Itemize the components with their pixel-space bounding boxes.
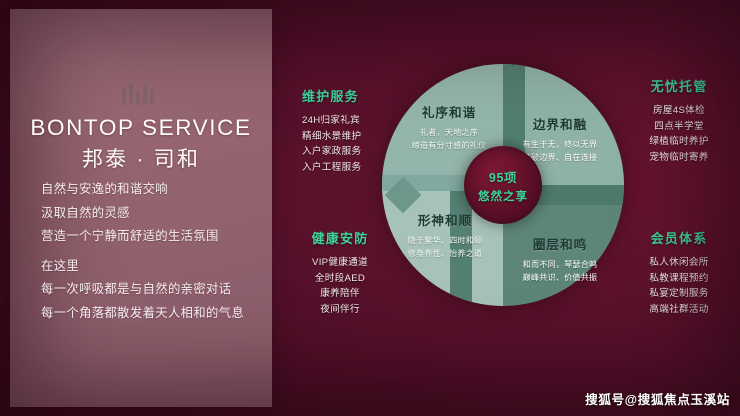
- group-item: 夜间伴行: [302, 302, 378, 318]
- core-slogan: 悠然之享: [478, 188, 528, 204]
- group-title: 健康安防: [302, 228, 378, 247]
- quadrant-label-ceremony: 礼序和谐 礼者，天地之序 缔造有分寸感的礼仪: [396, 102, 502, 153]
- group-item: 宠物临时寄养: [634, 150, 724, 166]
- service-group-membership: 会员体系 私人休闲会所 私教课程预约 私宴定制服务 高端社群活动: [634, 228, 724, 317]
- bontop-stripes-logo-icon: [122, 81, 158, 105]
- intro-line: 在这里: [41, 259, 266, 274]
- service-group-maintenance: 维护服务 24H归家礼宾 精细水景维护 入户家政服务 入户工程服务: [302, 86, 361, 175]
- core-count: 95项: [489, 167, 517, 186]
- quadrant-subtitle: 礼者，天地之序: [396, 126, 502, 139]
- intro-line: 自然与安逸的和谐交响: [41, 182, 266, 197]
- group-item: 私人休闲会所: [634, 255, 724, 271]
- quadrant-subtitle: 巅峰共识、价值共振: [502, 271, 618, 284]
- group-item: 房屋4S体检: [634, 103, 724, 119]
- brand-title-cn: 邦泰 · 司和: [10, 143, 272, 173]
- intro-line: 汲取自然的灵感: [41, 206, 266, 221]
- service-group-custody: 无忧托管 房屋4S体检 四点半学堂 绿植临时养护 宠物临时寄养: [634, 76, 724, 165]
- group-item: 康养陪伴: [302, 286, 378, 302]
- service-group-health-security: 健康安防 VIP健康通道 全时段AED 康养陪伴 夜间伴行: [302, 228, 378, 317]
- quadrant-subtitle: 和而不同，琴瑟合鸣: [502, 258, 618, 271]
- group-item: 全时段AED: [302, 271, 378, 287]
- group-title: 会员体系: [634, 228, 724, 247]
- quadrant-subtitle: 隐于繁华、四时和颐: [390, 234, 500, 247]
- group-item: 24H归家礼宾: [302, 113, 361, 129]
- quadrant-title: 边界和融: [504, 114, 616, 133]
- group-item: 私宴定制服务: [634, 286, 724, 302]
- brand-title-en: BONTOP SERVICE: [10, 115, 272, 141]
- group-item: 高端社群活动: [634, 302, 724, 318]
- slide-canvas: BONTOP SERVICE 邦泰 · 司和 自然与安逸的和谐交响 汲取自然的灵…: [0, 0, 740, 416]
- group-title: 维护服务: [302, 86, 361, 105]
- quadrant-title: 礼序和谐: [396, 102, 502, 121]
- quadrant-subtitle: 修身养性、怡养之道: [390, 247, 500, 260]
- intro-line: 每一次呼吸都是与自然的亲密对话: [41, 282, 266, 297]
- diagram-core-badge: 95项 悠然之享: [464, 146, 542, 224]
- group-item: 精细水景维护: [302, 129, 361, 145]
- group-item: 绿植临时养护: [634, 134, 724, 150]
- group-item: 入户家政服务: [302, 144, 361, 160]
- quadrant-title: 圈层和鸣: [502, 234, 618, 253]
- intro-copy-block: 自然与安逸的和谐交响 汲取自然的灵感 营造一个宁静而舒适的生活氛围 在这里 每一…: [41, 182, 266, 329]
- group-title: 无忧托管: [634, 76, 724, 95]
- group-item: 四点半学堂: [634, 119, 724, 135]
- group-item: 私教课程预约: [634, 271, 724, 287]
- central-circle-diagram: 礼序和谐 礼者，天地之序 缔造有分寸感的礼仪 边界和融 有生于无，终以无界 打破…: [382, 64, 624, 306]
- group-item: 入户工程服务: [302, 160, 361, 176]
- intro-line: 营造一个宁静而舒适的生活氛围: [41, 229, 266, 244]
- watermark: 搜狐号@搜狐焦点玉溪站: [585, 389, 730, 408]
- group-item: VIP健康通道: [302, 255, 378, 271]
- left-intro-panel: BONTOP SERVICE 邦泰 · 司和 自然与安逸的和谐交响 汲取自然的灵…: [10, 9, 272, 407]
- quadrant-label-community: 圈层和鸣 和而不同，琴瑟合鸣 巅峰共识、价值共振: [502, 234, 618, 285]
- intro-line: 每一个角落都散发着天人相和的气息: [41, 306, 266, 321]
